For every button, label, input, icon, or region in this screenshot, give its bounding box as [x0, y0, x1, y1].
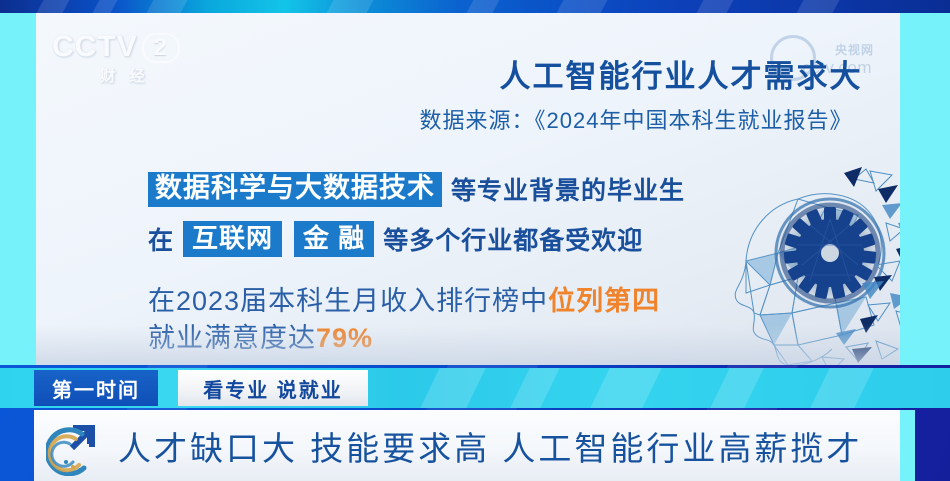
body-line-3: 在2023届本科生月收入排行榜中位列第四: [148, 283, 768, 320]
left-cyan-rail: [0, 13, 36, 365]
body-line-3-text: 在2023届本科生月收入排行榜中: [148, 286, 548, 316]
body-line-4-accent: 79%: [316, 323, 373, 353]
body-line-3-accent: 位列第四: [548, 286, 660, 316]
body-line-2-prefix: 在: [148, 221, 174, 257]
content-panel: CCTV2 财经 央视网 cctv.com: [36, 13, 900, 365]
news-bar-cyan-cap: [900, 410, 915, 481]
data-source-subtitle: 数据来源：《2024年中国本科生就业报告》: [366, 103, 900, 135]
cctv-logo-subtitle: 财经: [52, 65, 197, 86]
body-line-4: 就业满意度达79%: [148, 320, 768, 357]
highlight-industry-internet: 互联网: [183, 221, 282, 257]
news-headline: 人才缺口大 技能要求高 人工智能行业高薪揽才: [118, 410, 862, 481]
highlight-major-data-science: 数据科学与大数据技术: [148, 172, 442, 207]
body-line-2-rest: 等多个行业都备受欢迎: [383, 221, 643, 257]
right-cyan-rail: [900, 13, 950, 365]
page-title: 人工智能行业人才需求大: [456, 51, 900, 96]
cctv-finance-swoosh-icon: [46, 418, 108, 476]
top-gradient-bar: [0, 0, 950, 13]
cctv-channel-logo: CCTV2 财经: [52, 31, 197, 99]
highlight-industry-finance: 金 融: [294, 221, 374, 257]
body-text-block: 数据科学与大数据技术 等专业背景的毕业生 在 互联网 金 融 等多个行业都备受欢…: [148, 171, 768, 358]
body-line-2: 在 互联网 金 融 等多个行业都备受欢迎: [148, 221, 768, 257]
cctv-logo-number: 2: [142, 33, 180, 63]
broadcast-frame: CCTV2 财经 央视网 cctv.com: [0, 0, 950, 481]
segment-tag: 看专业 说就业: [178, 370, 368, 406]
cctv-logo-text: CCTV: [52, 30, 138, 63]
body-line-1-rest: 等专业背景的毕业生: [451, 171, 685, 207]
body-line-1: 数据科学与大数据技术 等专业背景的毕业生: [148, 171, 768, 207]
body-line-4-text: 就业满意度达: [148, 323, 316, 353]
program-tag: 第一时间: [34, 370, 158, 406]
